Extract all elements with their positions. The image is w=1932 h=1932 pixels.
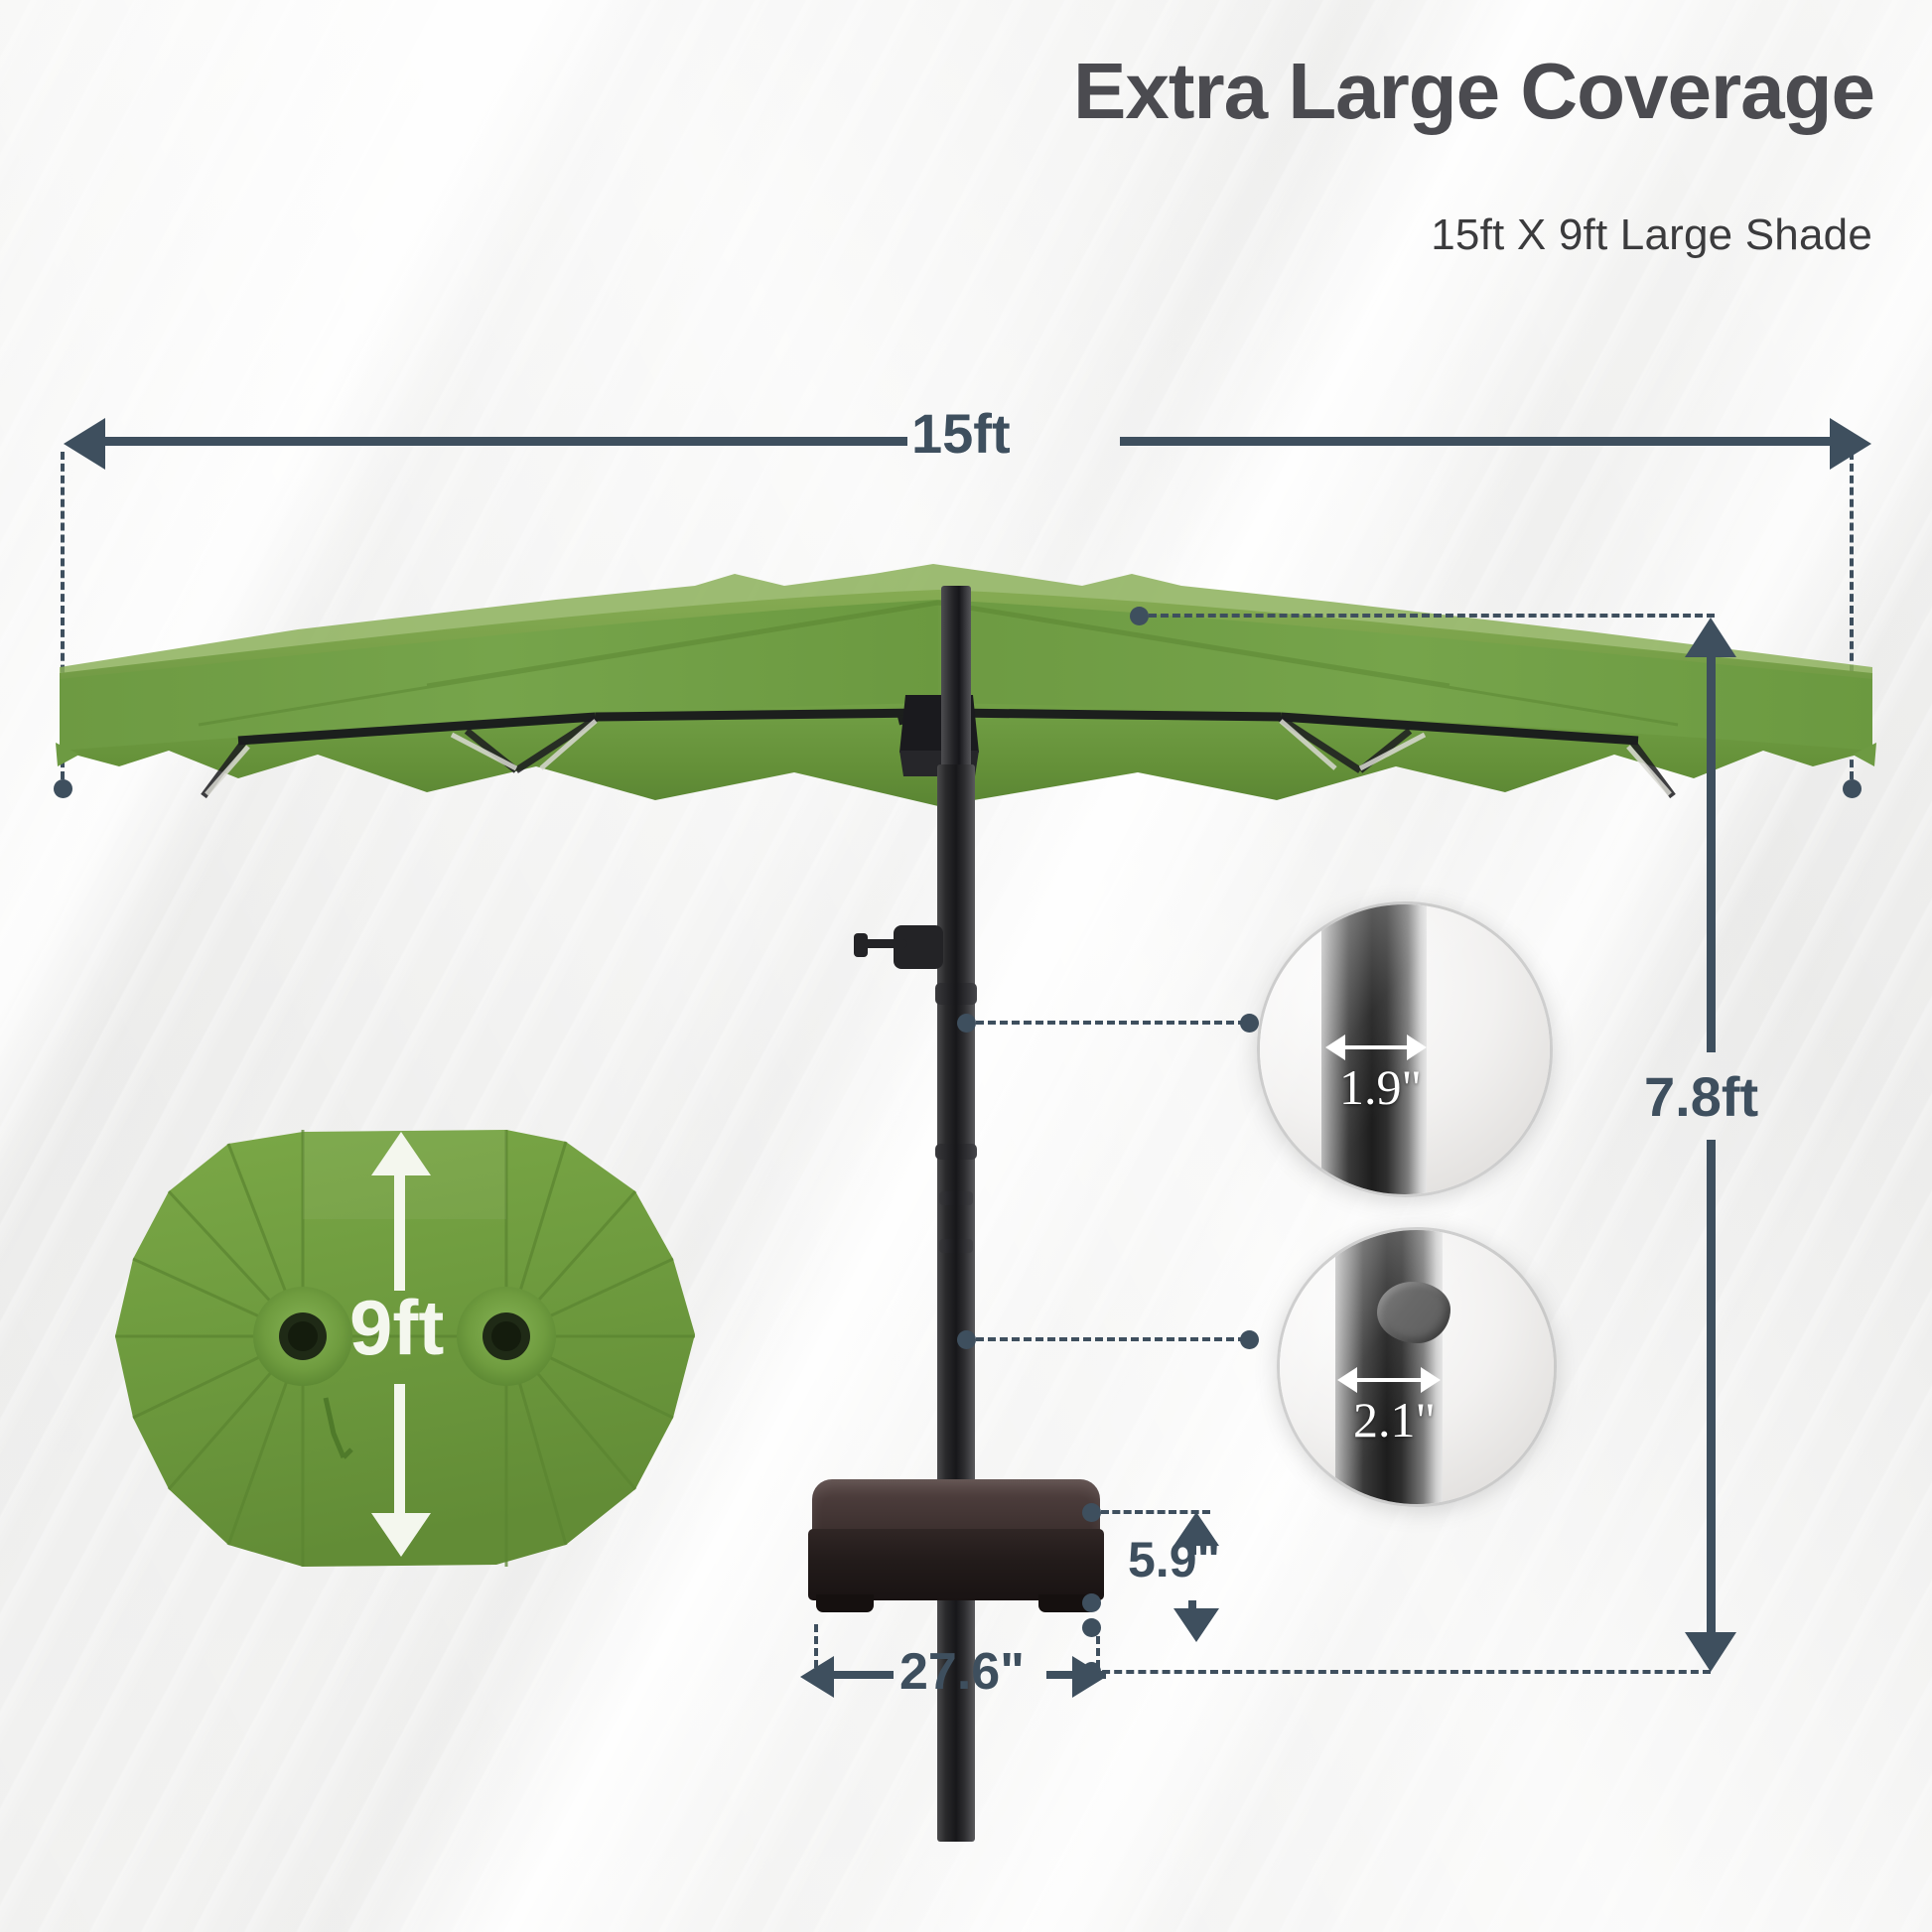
lens1-arrowhead-left [1325, 1035, 1345, 1060]
lens1-arrowhead-right [1407, 1035, 1427, 1060]
base-width-line-left [832, 1671, 894, 1679]
lens-pole-upper: 1.9" [1257, 901, 1553, 1197]
callout1-anchor-dot-pole [957, 1014, 976, 1033]
base-width-anchor-dot-right [1082, 1618, 1101, 1637]
lens-glare [1260, 904, 1550, 1194]
base-height-label: 5.9" [1128, 1531, 1220, 1588]
depth-arrowhead-top [371, 1132, 431, 1175]
height-arrowhead-bottom [1685, 1632, 1736, 1672]
pole-pin-b [939, 1239, 973, 1253]
lens-pole-lower: 2.1" [1277, 1227, 1557, 1507]
height-line-lower [1707, 1140, 1716, 1634]
base-foot-left [816, 1594, 874, 1612]
callout2-leader-line [976, 1337, 1246, 1341]
depth-label: 9ft [349, 1283, 444, 1373]
callout2-anchor-dot-pole [957, 1330, 976, 1349]
height-line-upper [1707, 655, 1716, 1052]
width-arrowhead-left [64, 418, 105, 470]
pole-joint-mid [935, 1144, 977, 1160]
base-body [808, 1529, 1104, 1600]
callout1-anchor-dot-lens [1240, 1014, 1259, 1033]
umbrella-upper-pole [941, 586, 971, 784]
height-arrowhead-top [1685, 618, 1736, 657]
width-arrowhead-right [1830, 418, 1871, 470]
page-subtitle: 15ft X 9ft Large Shade [1431, 210, 1872, 260]
base-width-arrowhead-left [800, 1656, 834, 1698]
depth-line-top [394, 1172, 405, 1291]
callout2-anchor-dot-lens [1240, 1330, 1259, 1349]
callout1-leader-line [976, 1021, 1246, 1025]
lens1-arrow-line [1343, 1045, 1413, 1049]
depth-arrowhead-bottom [371, 1513, 431, 1557]
pole-pin-a [939, 1191, 973, 1205]
height-top-anchor-dot [1130, 607, 1149, 625]
lens-glare [1280, 1230, 1554, 1504]
base-width-label: 27.6" [899, 1642, 1025, 1702]
pole-joint-upper [935, 983, 977, 1005]
height-top-leader-line [1149, 614, 1715, 618]
depth-line-bottom [394, 1384, 405, 1515]
width-label: 15ft [911, 401, 1011, 466]
umbrella-base [812, 1479, 1100, 1618]
lens1-label: 1.9" [1339, 1058, 1422, 1116]
base-height-bottom-dot [1082, 1593, 1101, 1612]
ground-reference-line [1090, 1670, 1711, 1674]
height-label: 7.8ft [1644, 1064, 1758, 1129]
umbrella-crank-knob [854, 933, 868, 957]
base-height-top-dot [1082, 1503, 1101, 1522]
lens2-arrow-line [1355, 1378, 1427, 1382]
width-line-left [103, 437, 907, 446]
width-line-right [1120, 437, 1852, 446]
base-width-arrowhead-right [1072, 1656, 1106, 1698]
page-title: Extra Large Coverage [1073, 52, 1874, 131]
lens2-label: 2.1" [1353, 1391, 1436, 1449]
lens2-arrowhead-right [1421, 1367, 1441, 1393]
lens2-arrowhead-left [1337, 1367, 1357, 1393]
base-height-arrowhead-bottom [1173, 1608, 1219, 1642]
